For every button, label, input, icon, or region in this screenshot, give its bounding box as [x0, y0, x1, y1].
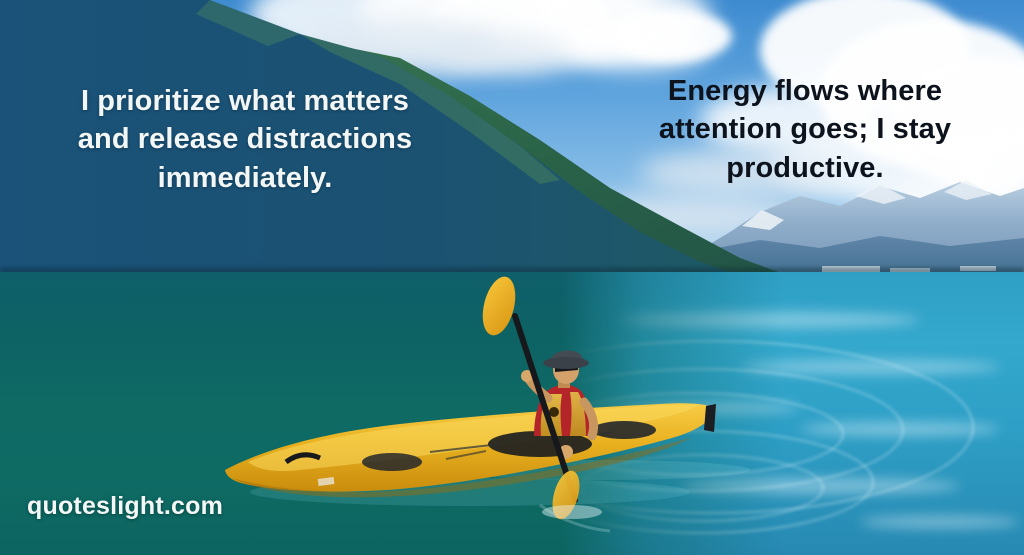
quote-right-line-2: attention goes; I stay: [608, 110, 1002, 148]
quote-right: Energy flows where attention goes; I sta…: [608, 72, 1002, 187]
quote-left: I prioritize what matters and release di…: [14, 82, 476, 197]
rear-hatch: [592, 421, 656, 439]
quote-right-line-3: productive.: [608, 149, 1002, 187]
quote-image: I prioritize what matters and release di…: [0, 0, 1024, 555]
quote-left-line-2: and release distractions: [14, 120, 476, 158]
hat-brim: [543, 357, 589, 369]
paddle-splash: [542, 505, 602, 519]
quote-left-line-1: I prioritize what matters: [14, 82, 476, 120]
kayak: [225, 403, 716, 497]
watermark: quoteslight.com: [27, 492, 223, 521]
front-hatch: [362, 453, 422, 471]
quote-left-line-3: immediately.: [14, 159, 476, 197]
paddle-blade-upper: [477, 273, 521, 338]
quote-right-line-1: Energy flows where: [608, 72, 1002, 110]
